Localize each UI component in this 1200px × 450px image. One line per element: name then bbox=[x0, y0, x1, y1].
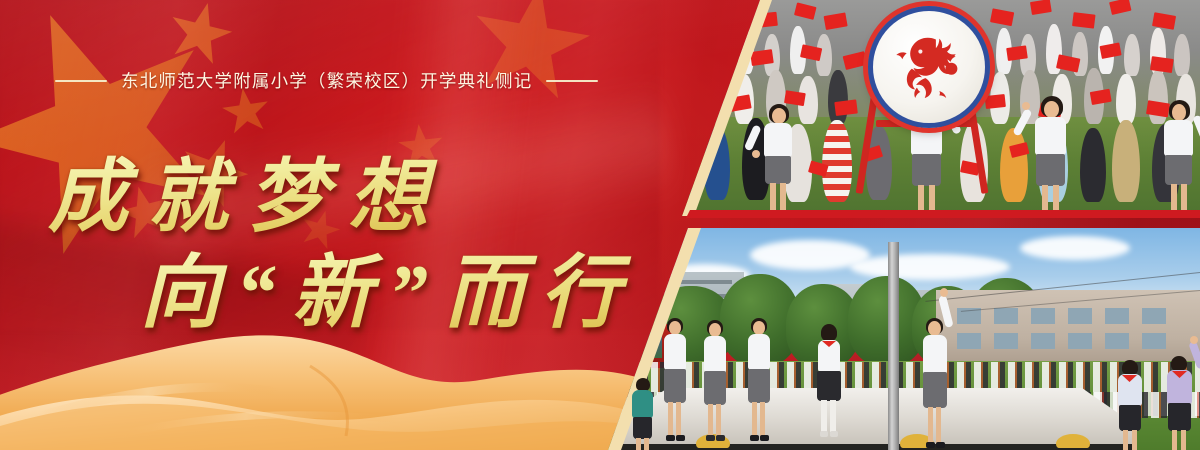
foreground-student-1 bbox=[1112, 360, 1148, 450]
stage-teacher-2 bbox=[698, 320, 732, 450]
gold-silk-wave bbox=[0, 306, 640, 450]
school-ceremony-banner: 东北师范大学附属小学（繁荣校区）开学典礼侧记 成就梦想 向“新”而行 bbox=[0, 0, 1200, 450]
photo-bottom-scene bbox=[600, 228, 1200, 450]
teacher-figure-3 bbox=[1022, 96, 1078, 216]
dragon-drum-icon bbox=[868, 6, 990, 128]
stage-teacher-1 bbox=[658, 318, 692, 450]
teacher-figure-4 bbox=[1152, 100, 1200, 216]
foreground-student-2 bbox=[1160, 350, 1200, 450]
rule-left-icon bbox=[55, 80, 107, 82]
headline-block: 东北师范大学附属小学（繁荣校区）开学典礼侧记 成就梦想 向“新”而行 bbox=[0, 0, 680, 340]
foreground-student-3 bbox=[628, 378, 658, 450]
rule-right-icon bbox=[546, 80, 598, 82]
flagpole bbox=[888, 242, 899, 450]
photo-bottom-flag-raising bbox=[600, 228, 1200, 450]
stage-teacher-3 bbox=[742, 318, 776, 450]
banner-subtitle: 东北师范大学附属小学（繁荣校区）开学典礼侧记 bbox=[121, 68, 532, 93]
stage-decoration-3 bbox=[1056, 434, 1090, 448]
teacher-figure-1 bbox=[752, 104, 804, 216]
student-flag-bearer bbox=[812, 324, 846, 450]
stage-teacher-hoisting bbox=[916, 308, 956, 450]
subtitle-row: 东北师范大学附属小学（繁荣校区）开学典礼侧记 bbox=[55, 68, 598, 93]
photo-separator-band bbox=[660, 210, 1200, 218]
